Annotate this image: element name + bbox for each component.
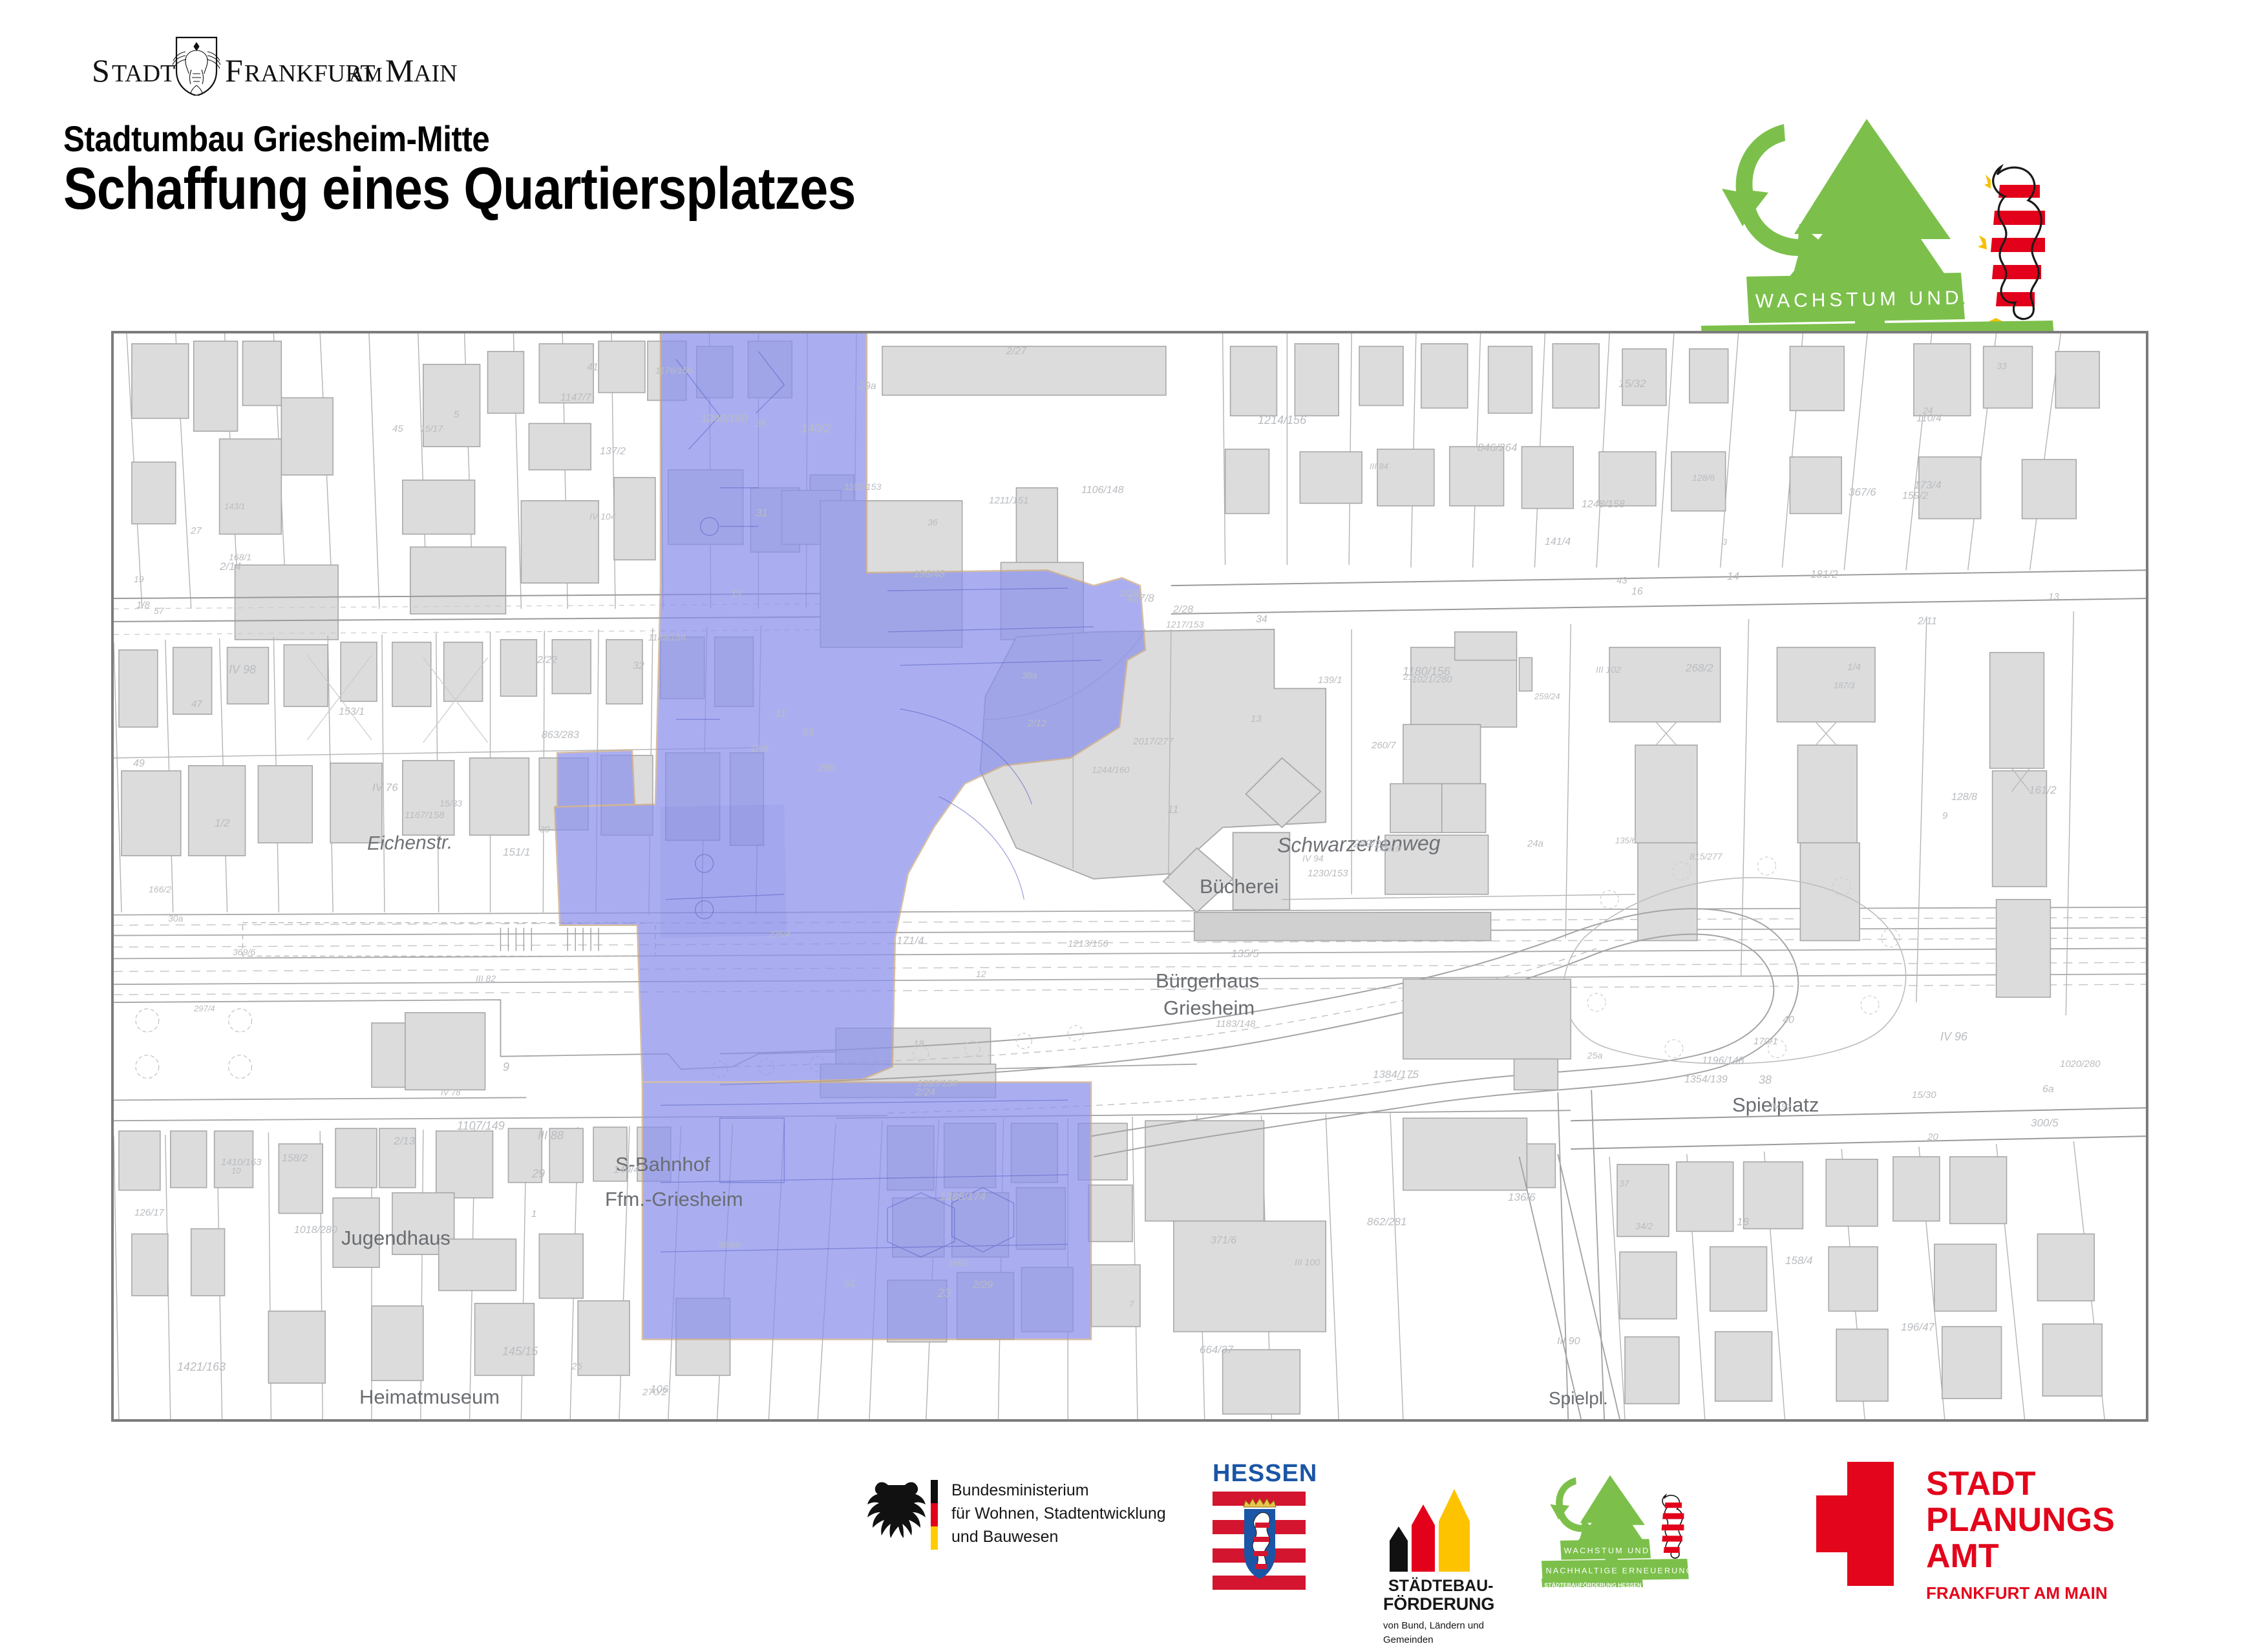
parcel-number: 166/1 [948, 1258, 970, 1268]
parcel-number: 32 [633, 660, 644, 672]
hessen-lion-icon-small [1662, 1495, 1684, 1558]
parcel-number: 368/6 [718, 1240, 741, 1250]
poi-s-bahnhof-2: Ffm.-Griesheim [605, 1188, 743, 1211]
parcel-number: 846/264 [1478, 441, 1517, 454]
svg-text:AM: AM [349, 63, 383, 86]
parcel-number: 13 [2048, 591, 2059, 602]
parcel-number: 1107/149 [457, 1119, 505, 1133]
parcel-number: 815/277 [1690, 851, 1722, 861]
bmwsb-line3: und Bauwesen [951, 1528, 1058, 1546]
poi-buergerhaus-2: Griesheim [1163, 997, 1255, 1020]
parcel-number: 35 [756, 418, 766, 428]
parcel-number: 34/2 [1635, 1221, 1653, 1231]
parcel-number: 196/47 [1901, 1321, 1934, 1334]
parcel-number: 1176/156 [655, 365, 692, 375]
parcel-number: 1214/156 [1258, 414, 1306, 427]
parcel-number: 110/4 [1916, 413, 1942, 425]
city-logo: S TADT F RANKFURT AM M AIN [90, 31, 504, 96]
stadtplanungsamt-text: STADT PLANUNGS AMT FRANKFURT AM MAIN [1926, 1467, 2115, 1601]
parcel-number: 168/1 [229, 552, 251, 562]
svg-text:S: S [92, 52, 110, 89]
parcel-number: 1/2 [215, 817, 230, 830]
parcel-number: 1103/153 [844, 481, 881, 492]
parcel-number: 1196/148 [1702, 1055, 1744, 1067]
parcel-number: 26 [571, 1361, 582, 1372]
parcel-number: 29a [859, 381, 876, 392]
parcel-number: IV 94 [1302, 853, 1324, 863]
parcel-number: 141/4 [1545, 536, 1571, 548]
parcel-number: 15/33 [440, 798, 462, 808]
parcel-number: 14 [1727, 570, 1739, 583]
page-title: Schaffung eines Quartiersplatzes [63, 155, 856, 223]
parcel-number: III 102 [1596, 664, 1621, 675]
parcel-number: 15/30 [1912, 1090, 1936, 1101]
parcel-number: 3 [1722, 537, 1727, 547]
parcel-number: 1183/148 [1216, 1018, 1255, 1029]
parcel-number: 2017/277 [1133, 736, 1174, 747]
parcel-number: 137/2 [600, 446, 626, 458]
parcel-number: 39 [540, 824, 550, 834]
frankfurt-eagle-shield-icon [173, 37, 220, 96]
parcel-number: 1106/148 [1081, 485, 1124, 496]
parcel-number: 170/1 [1754, 1036, 1778, 1047]
bmwsb-line1: Bundesministerium [951, 1481, 1089, 1499]
parcel-number: 145/15 [502, 1345, 538, 1358]
parcel-number: 40 [1783, 1015, 1794, 1026]
parcel-number: 158/2 [282, 1153, 308, 1165]
parcel-number: III 84 [1370, 461, 1388, 471]
svg-text:AIN: AIN [414, 60, 458, 87]
parcel-number: 18 [1737, 1216, 1749, 1229]
parcel-number: 18 [913, 1039, 924, 1050]
parcel-number: 41 [587, 362, 599, 374]
spa-line1: STADT [1926, 1467, 2115, 1501]
parcel-number: 259/24 [1534, 691, 1560, 701]
parcel-number: 126/17 [134, 1207, 164, 1218]
parcel-number: 13 [1251, 713, 1262, 724]
parcel-number: 34 [1256, 614, 1267, 626]
parcel-number: 143/1 [224, 501, 246, 511]
parcel-number: 196/48 [913, 569, 945, 580]
parcel-number: 1021/280 [1412, 674, 1452, 685]
parcel-number: 20 [1927, 1132, 1938, 1143]
parcel-number: 1384/175 [1373, 1068, 1419, 1081]
poi-buergerhaus: Bürgerhaus [1156, 969, 1259, 993]
parcel-number: 36 [927, 517, 938, 527]
parcel-number: 862/281 [1367, 1216, 1406, 1229]
parcel-number: 290 [818, 763, 835, 774]
parcel-number: 1213/156 [1068, 938, 1108, 949]
parcel-number: 371/6 [1211, 1235, 1236, 1247]
parcel-number: 135/5 [1231, 947, 1259, 960]
hessen-lion-icon [1978, 167, 2045, 337]
parcel-number: III 88 [538, 1129, 564, 1143]
parcel-number: 1211/151 [989, 495, 1028, 506]
parcel-number: 15/9 [750, 743, 768, 754]
parcel-number: IV 104 [589, 511, 615, 522]
stadtplanungsamt-mark-icon [1816, 1462, 1913, 1586]
parcel-number: 31 [756, 507, 768, 520]
parcel-number: 181/2 [1810, 568, 1838, 581]
parcel-number: 369/6 [233, 947, 255, 957]
parcel-number: 128/8 [1951, 792, 1977, 803]
parcel-number: 863/283 [542, 730, 579, 741]
parcel-number: 276/4 [769, 929, 790, 939]
parcel-number: 128/6 [1692, 472, 1715, 483]
parcel-number: 47 [191, 699, 202, 710]
parcel-number: 9 [503, 1060, 509, 1074]
parcel-number: 6a [2042, 1084, 2054, 1095]
svg-text:TADT: TADT [112, 60, 175, 87]
city-logo-svg: S TADT F RANKFURT AM M AIN [90, 31, 504, 96]
funding-logo-bar: Bundesministerium für Wohnen, Stadtentwi… [0, 1453, 2268, 1603]
parcel-number: 1147/7 [560, 392, 591, 404]
staedtebau-sub2: Gemeinden [1383, 1634, 1551, 1646]
parcel-number: 38 [1759, 1073, 1772, 1087]
parcel-number: IV 76 [372, 781, 398, 794]
parcel-number: 11 [775, 707, 787, 720]
map-drawing [114, 333, 2146, 1419]
parcel-number: 260/7 [1372, 740, 1396, 751]
parcel-number: 23 [938, 1287, 951, 1300]
parcel-number: 43 [1616, 575, 1627, 586]
parcel-number: 10 [231, 1166, 240, 1176]
parcel-number: 2/13 [394, 1135, 415, 1148]
parcel-number: 2/24 [915, 1087, 935, 1099]
parcel-number: 2/14 [220, 560, 241, 573]
parcel-number: 158/4 [1785, 1254, 1813, 1267]
bmwsb-line2: für Wohnen, Stadtentwicklung [951, 1504, 1166, 1523]
parcel-number: 5 [454, 409, 459, 420]
parcel-number: 2/12 [1028, 718, 1046, 729]
parcel-number: 1217/153 [1166, 619, 1203, 629]
parcel-number: III 100 [1295, 1257, 1320, 1267]
staedtebau-houses-icon [1390, 1489, 1470, 1572]
parcel-number: 171/4 [896, 934, 924, 947]
parcel-number: 1/4 [1847, 662, 1861, 673]
cadastral-map[interactable]: Eichenstr. Schwarzerlenweg Am Gemeindega… [111, 331, 2148, 1422]
staedtebau-line1: STÄDTEBAU- [1388, 1577, 1494, 1594]
parcel-number: 140/4 [613, 1165, 639, 1176]
parcel-number: 1018/280 [294, 1225, 337, 1236]
parcel-number: 37 [1619, 1178, 1629, 1188]
parcel-number: 15/32 [1618, 377, 1646, 390]
wachstum-line1: WACHSTUM UND [1755, 287, 1963, 312]
parcel-number: 51 [844, 1278, 856, 1290]
poi-spielpl: Spielpl. [1549, 1388, 1608, 1409]
parcel-number: 1421/163 [177, 1360, 226, 1374]
parcel-number: 268/2 [1686, 662, 1713, 675]
bmwsb-logo: Bundesministerium für Wohnen, Stadtentwi… [860, 1467, 1196, 1561]
parcel-number: 1249/160 [701, 412, 747, 425]
parcel-number: III 82 [476, 973, 496, 984]
parcel-number: 259/23 [1353, 838, 1387, 850]
parcel-number: 11 [1167, 803, 1179, 816]
parcel-number: 270/2 [642, 1387, 667, 1398]
spa-line2: PLANUNGS [1926, 1503, 2115, 1537]
parcel-number: 53 [802, 727, 814, 739]
parcel-number: IV 92 [1770, 1101, 1792, 1112]
parcel-number: 1244/160 [1092, 765, 1129, 775]
svg-text:F: F [225, 52, 243, 89]
parcel-number: 139/1 [1318, 675, 1342, 686]
parcel-number: 2/22 [537, 655, 557, 666]
parcel-number: 9 [1942, 810, 1947, 821]
poi-heimatmuseum: Heimatmuseum [359, 1386, 500, 1409]
program-subtitle: Stadtumbau Griesheim-Mitte [63, 118, 489, 160]
parcel-number: 1354/139 [1684, 1074, 1728, 1086]
wachstum-small-line3: STÄDTEBAUFÖRDERUNG HESSEN [1544, 1582, 1642, 1587]
stadtplanungsamt-logo [1816, 1462, 1913, 1589]
parcel-number: 2/27 [1006, 346, 1026, 357]
parcel-number: 12 [976, 969, 986, 979]
parcel-number: 187/3 [1834, 681, 1855, 690]
parcel-number: 2/28 [1173, 604, 1193, 616]
parcel-number: 2/29 [973, 1280, 993, 1291]
parcel-number: 1385/174 [940, 1190, 986, 1203]
parcel-number: 36a [1022, 670, 1037, 681]
parcel-number: 367/6 [1849, 486, 1876, 499]
wachstum-logo-small: WACHSTUM UND NACHHALTIGE ERNEUERUNG STÄD… [1538, 1471, 1726, 1590]
staedtebau-line2: FÖRDERUNG [1383, 1594, 1551, 1614]
parcel-number: 15/17 [420, 423, 443, 434]
parcel-number: 1/8 [136, 600, 150, 611]
staedtebau-sub1: von Bund, Ländern und [1383, 1620, 1551, 1632]
parcel-number: 33 [1997, 361, 2007, 371]
hessen-flag-icon [1213, 1492, 1306, 1590]
parcel-number: 1248/158 [1582, 499, 1625, 511]
parcel-number: 27 [191, 525, 202, 536]
hessen-logo: HESSEN [1209, 1459, 1325, 1598]
parcel-number: 1167/158 [405, 810, 444, 821]
parcel-number: 159/2 [1902, 491, 1928, 502]
parcel-number: IV 98 [229, 663, 256, 677]
parcel-number: 25a [1587, 1050, 1602, 1060]
staedtebaufoerderung-logo: STÄDTEBAU- FÖRDERUNG von Bund, Ländern u… [1383, 1464, 1551, 1646]
parcel-number: 16 [1631, 586, 1643, 598]
parcel-number: 29 [532, 1167, 545, 1181]
parcel-number: 151/1 [503, 846, 531, 859]
parcel-number: 30a [168, 913, 183, 923]
parcel-number: 21 [1403, 671, 1414, 682]
parcel-number: 153/1 [339, 706, 365, 718]
spa-sub: FRANKFURT AM MAIN [1926, 1585, 2115, 1601]
poi-buecherei: Bücherei [1200, 875, 1278, 898]
parcel-number: 19 [134, 574, 144, 584]
parcel-number: 1189/156 [648, 632, 685, 642]
parcel-number: 2/11 [1918, 616, 1937, 628]
parcel-number: 166/2 [149, 884, 171, 894]
parcel-number: 7 [1129, 1299, 1134, 1309]
poi-jugendhaus: Jugendhaus [341, 1227, 450, 1250]
parcel-number: 57 [154, 606, 164, 616]
parcel-number: 161/2 [2029, 784, 2057, 797]
parcel-number: 49 [133, 758, 145, 770]
svg-text:M: M [385, 52, 414, 89]
parcel-number: 140/2 [801, 422, 831, 436]
parcel-number: IV 96 [1940, 1030, 1967, 1044]
wachstum-small-line1: WACHSTUM UND [1564, 1546, 1650, 1556]
parcel-number: 1230/153 [1308, 868, 1348, 879]
parcel-number: III 90 [1557, 1336, 1580, 1347]
parcel-number: 135/6 [1615, 836, 1637, 845]
hessen-label: HESSEN [1213, 1460, 1317, 1487]
parcel-number: 24a [1527, 838, 1543, 849]
parcel-number: 1410/163 [221, 1157, 262, 1168]
parcel-number: 300/5 [2031, 1117, 2059, 1130]
parcel-number: 45 [392, 423, 403, 434]
parcel-number: 427/8 [1127, 592, 1154, 605]
parcel-lines [114, 333, 2146, 1419]
spa-line3: AMT [1926, 1539, 2115, 1573]
parcel-number: 173/4 [1914, 479, 1942, 492]
parcel-number: 136/6 [1508, 1191, 1536, 1204]
parcel-number: 664/37 [1200, 1344, 1233, 1356]
bundesadler-icon [867, 1482, 926, 1539]
parcel-number: 1020/280 [2060, 1059, 2101, 1070]
parcel-number: 15 [731, 588, 741, 598]
parcel-number: 297/4 [194, 1004, 215, 1013]
parcel-number: 1 [531, 1208, 536, 1219]
wachstum-small-line2: NACHHALTIGE ERNEUERUNG [1546, 1566, 1694, 1575]
parcel-number: IV 78 [441, 1088, 460, 1097]
